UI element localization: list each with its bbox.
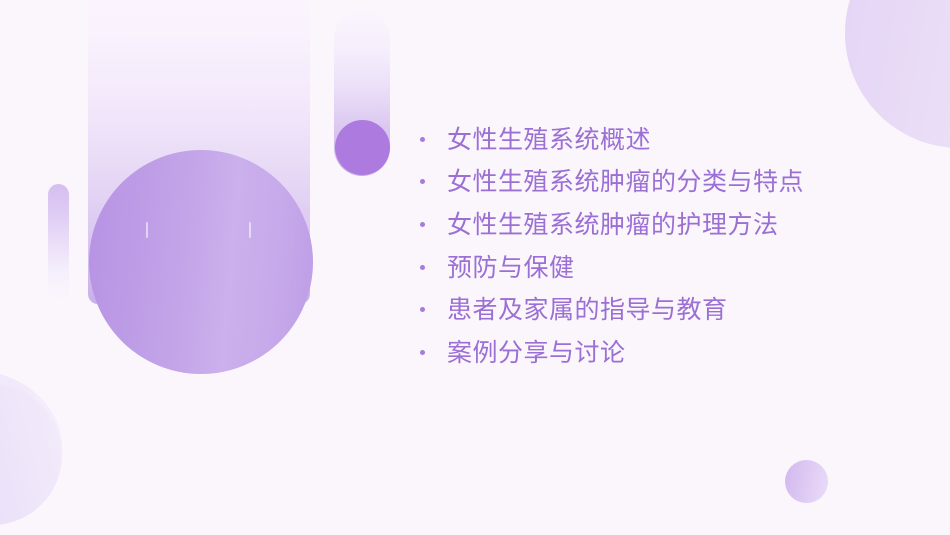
list-item: 女性生殖系统肿瘤的分类与特点: [420, 161, 900, 204]
circle-bottom-left-outer-shape: [0, 370, 62, 525]
circle-large-purple-shape: [89, 150, 313, 374]
bullet-dot-icon: [420, 350, 425, 355]
bullet-dot-icon: [420, 307, 425, 312]
list-item-label: 案例分享与讨论: [447, 340, 626, 365]
circle-bottom-left-shape: [0, 385, 62, 525]
list-item: 女性生殖系统肿瘤的护理方法: [420, 203, 900, 246]
agenda-list: 女性生殖系统概述 女性生殖系统肿瘤的分类与特点 女性生殖系统肿瘤的护理方法 预防…: [420, 118, 900, 374]
list-item-label: 女性生殖系统概述: [447, 127, 651, 152]
circle-small-bottom-right-shape: [785, 460, 828, 503]
list-item-label: 患者及家属的指导与教育: [447, 297, 728, 322]
highlight-tick-left: [146, 222, 148, 238]
list-item: 患者及家属的指导与教育: [420, 288, 900, 331]
presentation-slide: 女性生殖系统概述 女性生殖系统肿瘤的分类与特点 女性生殖系统肿瘤的护理方法 预防…: [0, 0, 950, 535]
list-item-label: 女性生殖系统肿瘤的分类与特点: [447, 169, 804, 194]
gradient-panel-shape: [88, 0, 310, 304]
bullet-dot-icon: [420, 179, 425, 184]
capsule-tall-shape: [334, 10, 390, 176]
bullet-dot-icon: [420, 137, 425, 142]
dot-solid-purple-shape: [335, 120, 390, 175]
bullet-dot-icon: [420, 222, 425, 227]
bullet-dot-icon: [420, 265, 425, 270]
list-item-label: 预防与保健: [447, 255, 575, 280]
highlight-tick-right: [249, 222, 251, 238]
list-item: 预防与保健: [420, 246, 900, 289]
list-item: 案例分享与讨论: [420, 331, 900, 374]
capsule-small-left-shape: [48, 184, 69, 302]
list-item: 女性生殖系统概述: [420, 118, 900, 161]
list-item-label: 女性生殖系统肿瘤的护理方法: [447, 212, 779, 237]
